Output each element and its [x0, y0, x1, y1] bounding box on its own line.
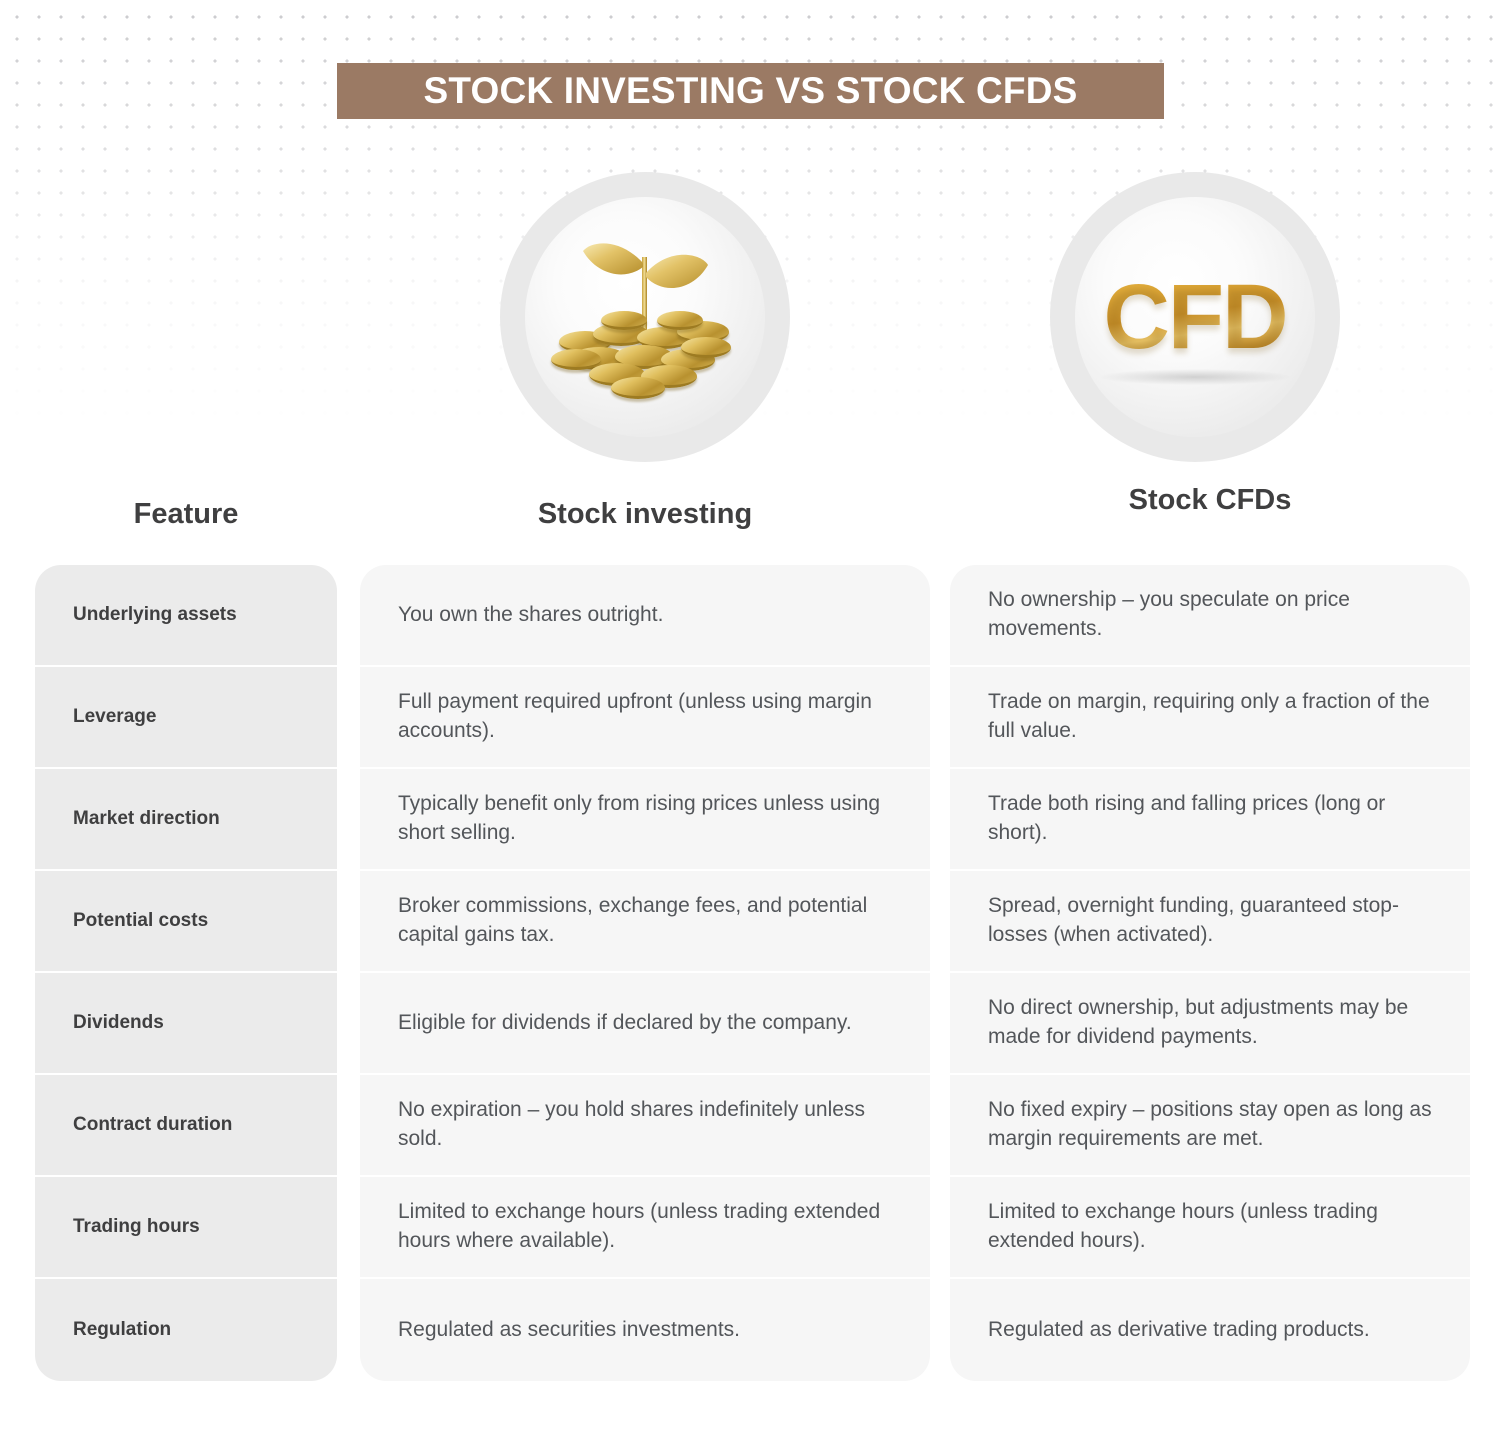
- table-row: Regulated as derivative trading products…: [950, 1279, 1470, 1381]
- column-header-stock-investing: Stock investing: [360, 498, 930, 531]
- cfd-gold-letters-icon: CFD: [1075, 197, 1315, 437]
- table-row: Eligible for dividends if declared by th…: [360, 973, 930, 1075]
- table-row: Regulation: [35, 1279, 337, 1381]
- table-row: Limited to exchange hours (unless tradin…: [950, 1177, 1470, 1279]
- table-row: No fixed expiry – positions stay open as…: [950, 1075, 1470, 1177]
- table-row: No expiration – you hold shares indefini…: [360, 1075, 930, 1177]
- stock-cfds-badge: CFD: [1050, 172, 1340, 462]
- table-row: Trade on margin, requiring only a fracti…: [950, 667, 1470, 769]
- table-row: Full payment required upfront (unless us…: [360, 667, 930, 769]
- table-row: Contract duration: [35, 1075, 337, 1177]
- table-row: Typically benefit only from rising price…: [360, 769, 930, 871]
- infographic-page: STOCK INVESTING VS STOCK CFDS: [0, 0, 1500, 1438]
- stock-investing-badge: [500, 172, 790, 462]
- table-row: No ownership – you speculate on price mo…: [950, 565, 1470, 667]
- coins-illustration: [545, 227, 745, 407]
- table-row: Underlying assets: [35, 565, 337, 667]
- table-row: You own the shares outright.: [360, 565, 930, 667]
- column-header-feature: Feature: [35, 498, 337, 531]
- table-row: Regulated as securities investments.: [360, 1279, 930, 1381]
- cfd-drop-shadow: [1100, 369, 1290, 385]
- feature-column: Underlying assets Leverage Market direct…: [35, 565, 337, 1381]
- table-row: Leverage: [35, 667, 337, 769]
- cfd-letters: CFD: [1103, 271, 1286, 363]
- title-banner: STOCK INVESTING VS STOCK CFDS: [337, 63, 1164, 119]
- table-row: Dividends: [35, 973, 337, 1075]
- gold-coins-sprout-icon: [525, 197, 765, 437]
- table-row: Trading hours: [35, 1177, 337, 1279]
- table-row: Market direction: [35, 769, 337, 871]
- table-row: Trade both rising and falling prices (lo…: [950, 769, 1470, 871]
- stock-cfds-column: No ownership – you speculate on price mo…: [950, 565, 1470, 1381]
- table-row: Broker commissions, exchange fees, and p…: [360, 871, 930, 973]
- table-row: Potential costs: [35, 871, 337, 973]
- table-row: No direct ownership, but adjustments may…: [950, 973, 1470, 1075]
- page-title: STOCK INVESTING VS STOCK CFDS: [423, 70, 1077, 112]
- stock-investing-column: You own the shares outright. Full paymen…: [360, 565, 930, 1381]
- table-row: Limited to exchange hours (unless tradin…: [360, 1177, 930, 1279]
- column-header-stock-cfds: Stock CFDs: [950, 484, 1470, 517]
- table-row: Spread, overnight funding, guaranteed st…: [950, 871, 1470, 973]
